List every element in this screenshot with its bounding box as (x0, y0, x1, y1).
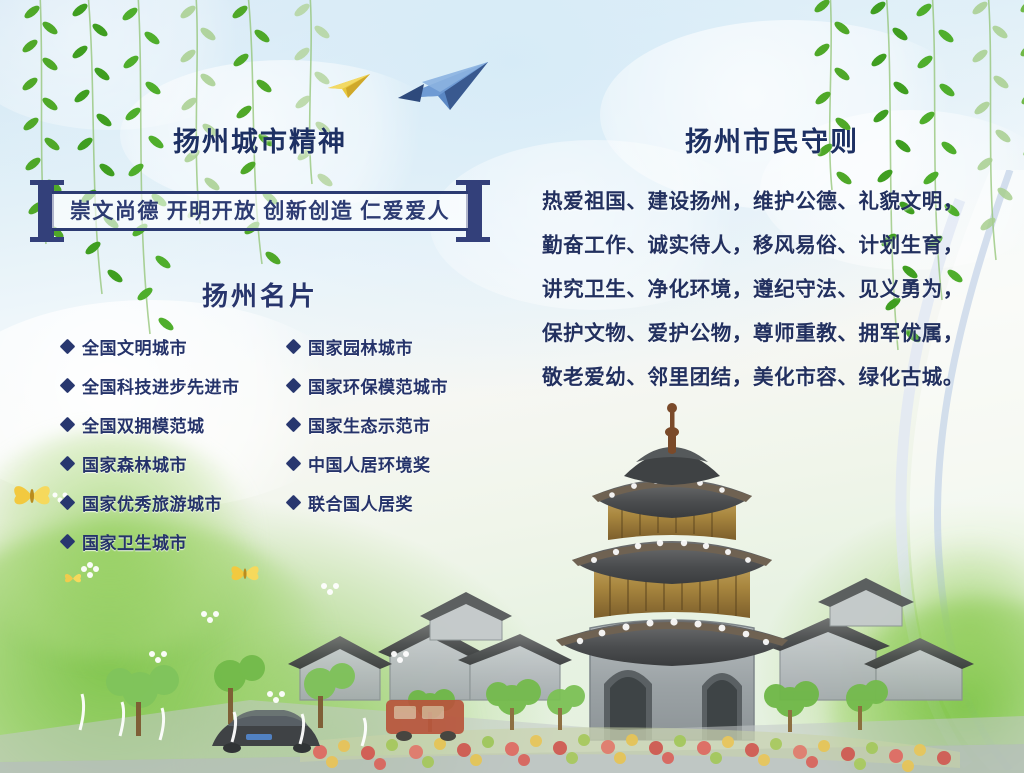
paper-plane-yellow-icon (326, 72, 372, 100)
list-item-label: 国家环保模范城市 (308, 373, 448, 398)
poster-canvas: 扬州城市精神 崇文尚德 开明开放 创新创造 仁爱爱人 扬州名片 全国文明城市 全… (0, 0, 1024, 773)
diamond-bullet-icon (60, 455, 76, 471)
butterfly-icon (228, 560, 262, 586)
cards-column-a: 全国文明城市 全国科技进步先进市 全国双拥模范城 国家森林城市 国家优秀旅游城市… (62, 327, 270, 561)
cards-column-b: 国家园林城市 国家环保模范城市 国家生态示范市 中国人居环境奖 联合国人居奖 (288, 327, 496, 561)
butterfly-icon (63, 570, 83, 586)
diamond-bullet-icon (60, 533, 76, 549)
list-item-label: 国家卫生城市 (82, 529, 187, 554)
rule-line: 保护文物、爱护公物，尊师重教、拥军优属， (542, 312, 1006, 356)
city-cards-list: 全国文明城市 全国科技进步先进市 全国双拥模范城 国家森林城市 国家优秀旅游城市… (0, 327, 520, 561)
bus (386, 700, 464, 741)
banner-cap-top-right (456, 180, 490, 185)
list-item: 国家园林城市 (288, 327, 496, 366)
list-item: 国家优秀旅游城市 (62, 483, 270, 522)
list-item: 国家卫生城市 (62, 522, 270, 561)
banner-cap-top-left (30, 180, 64, 185)
list-item-label: 国家森林城市 (82, 451, 187, 476)
street-trees (106, 655, 888, 736)
banner-cap-bottom-left (30, 237, 64, 242)
banner-cap-bottom-right (456, 237, 490, 242)
motto-text: 崇文尚德 开明开放 创新创造 仁爱爱人 (52, 191, 468, 231)
diamond-bullet-icon (286, 455, 302, 471)
rules-title: 扬州市民守则 (520, 128, 1024, 158)
diamond-bullet-icon (286, 494, 302, 510)
diamond-bullet-icon (60, 338, 76, 354)
list-item: 全国双拥模范城 (62, 405, 270, 444)
list-item-label: 全国科技进步先进市 (82, 373, 240, 398)
right-column: 扬州市民守则 热爱祖国、建设扬州，维护公德、礼貌文明， 勤奋工作、诚实待人，移风… (520, 128, 1024, 400)
list-item: 联合国人居奖 (288, 483, 496, 522)
list-item-label: 中国人居环境奖 (308, 451, 431, 476)
list-item: 国家环保模范城市 (288, 366, 496, 405)
rule-line: 敬老爱幼、邻里团结，美化市容、绿化古城。 (542, 356, 1006, 400)
list-item-label: 国家优秀旅游城市 (82, 490, 222, 515)
list-item: 中国人居环境奖 (288, 444, 496, 483)
motto-banner: 崇文尚德 开明开放 创新创造 仁爱爱人 (30, 180, 490, 242)
list-item: 国家森林城市 (62, 444, 270, 483)
paper-plane-blue-icon (394, 58, 492, 114)
spirit-title: 扬州城市精神 (0, 128, 520, 158)
diamond-bullet-icon (60, 416, 76, 432)
diamond-bullet-icon (286, 338, 302, 354)
cards-title: 扬州名片 (0, 276, 520, 313)
list-item-label: 国家园林城市 (308, 334, 413, 359)
list-item-label: 全国文明城市 (82, 334, 187, 359)
list-item: 全国文明城市 (62, 327, 270, 366)
banner-bracket-right (466, 180, 482, 242)
list-item-label: 国家生态示范市 (308, 412, 431, 437)
rule-line: 热爱祖国、建设扬州，维护公德、礼貌文明， (542, 180, 1006, 224)
car (212, 710, 320, 753)
list-item: 全国科技进步先进市 (62, 366, 270, 405)
rule-line: 勤奋工作、诚实待人，移风易俗、计划生育， (542, 224, 1006, 268)
list-item-label: 全国双拥模范城 (82, 412, 205, 437)
diamond-bullet-icon (286, 377, 302, 393)
flower-bed (300, 727, 960, 772)
citizen-rules-text: 热爱祖国、建设扬州，维护公德、礼貌文明， 勤奋工作、诚实待人，移风易俗、计划生育… (520, 180, 1024, 400)
list-item: 国家生态示范市 (288, 405, 496, 444)
left-column: 扬州城市精神 崇文尚德 开明开放 创新创造 仁爱爱人 扬州名片 全国文明城市 全… (0, 128, 520, 561)
pagoda-tower (556, 403, 788, 740)
list-item-label: 联合国人居奖 (308, 490, 413, 515)
diamond-bullet-icon (60, 377, 76, 393)
diamond-bullet-icon (60, 494, 76, 510)
rule-line: 讲究卫生、净化环境，遵纪守法、见义勇为， (542, 268, 1006, 312)
diamond-bullet-icon (286, 416, 302, 432)
